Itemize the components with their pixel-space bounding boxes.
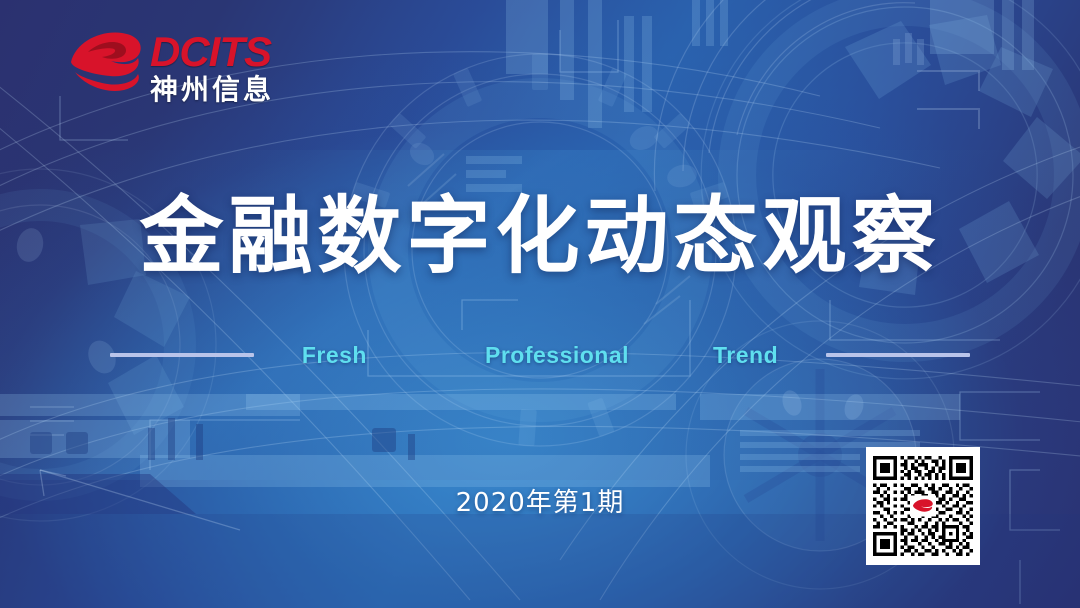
tagline-word-trend: Trend (713, 342, 778, 368)
qr-center-logo-icon (910, 496, 936, 517)
qr-code[interactable] (866, 447, 980, 565)
tagline-word-professional: Professional (485, 342, 629, 368)
page-title: 金融数字化动态观察 (0, 186, 1080, 286)
qr-code-canvas (873, 454, 973, 558)
dcits-swirl-icon (66, 28, 144, 100)
tagline-row: Fresh Professional Trend (0, 342, 1080, 368)
tagline-rule-left (110, 353, 254, 357)
brand-name-en: DCITS (150, 32, 274, 72)
tagline-word-fresh: Fresh (302, 342, 367, 368)
tagline-rule-right (826, 353, 970, 357)
brand-name-cn: 神州信息 (150, 74, 274, 106)
cover-slide: DCITS 神州信息 金融数字化动态观察 Fresh Professional … (0, 0, 1080, 608)
brand-logo: DCITS 神州信息 (66, 28, 274, 106)
